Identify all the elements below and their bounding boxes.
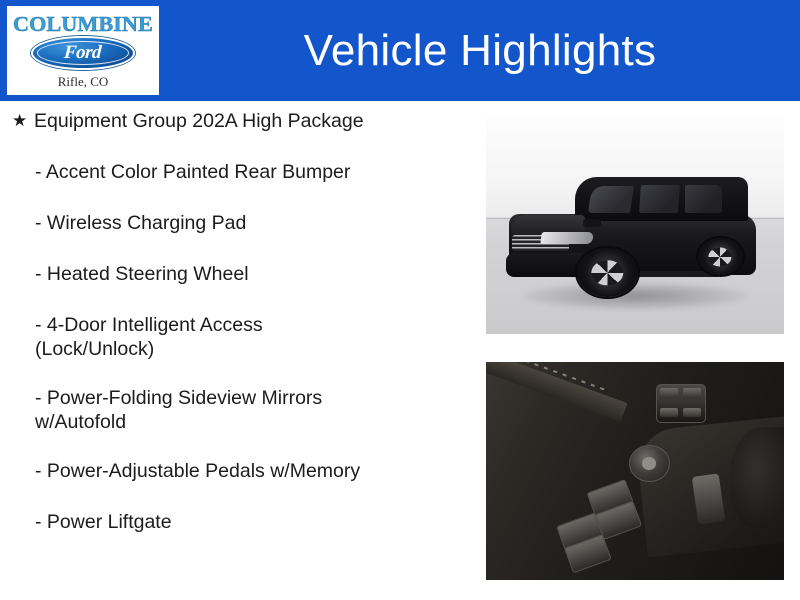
vehicle-interior-photo [486,362,784,580]
list-item-label: - Accent Color Painted Rear Bumper [35,160,470,184]
suv-rear-window [685,185,722,213]
suv-illustration [504,175,766,297]
star-bullet-icon: ★ [12,109,34,133]
lock-indicator-icon [683,388,701,398]
list-item: - Power-Adjustable Pedals w/Memory [0,459,470,483]
dealer-logo: COLUMBINE Ford Rifle, CO [7,6,159,95]
suv-headlight [540,232,594,244]
page-content: ★ Equipment Group 202A High Package - Ac… [0,101,800,600]
suv-side-mirror [583,219,601,228]
list-item-label: - 4-Door Intelligent Access (Lock/Unlock… [35,313,470,361]
mirror-control-dial-icon [629,445,670,482]
suv-rear-wheel [698,238,743,275]
wheel-hub [709,247,732,266]
list-item: - Power Liftgate [0,510,470,534]
list-item: - Heated Steering Wheel [0,262,470,286]
list-item-label: Equipment Group 202A High Package [34,109,470,133]
page-title: Vehicle Highlights [160,0,800,101]
ford-oval-icon: Ford [31,36,135,70]
dealer-name-wordmark: COLUMBINE [13,14,153,35]
seat-edge [730,427,784,527]
vehicle-highlights-list: ★ Equipment Group 202A High Package - Ac… [0,101,470,561]
list-item-label: - Power-Adjustable Pedals w/Memory [35,459,470,483]
unlock-button-icon [660,408,678,418]
list-item: - Power-Folding Sideview Mirrors w/Autof… [0,386,470,434]
ford-oval-inner-ring: Ford [37,41,129,65]
suv-front-window [639,185,680,213]
list-item: - Accent Color Painted Rear Bumper [0,160,470,184]
list-item-label: - Power-Folding Sideview Mirrors w/Autof… [35,386,470,434]
suv-running-board [625,271,719,277]
wheel-hub [592,260,623,285]
suv-front-bumper [506,253,585,277]
suv-windshield [588,186,634,213]
vehicle-exterior-photo [486,116,784,334]
page-header: COLUMBINE Ford Rifle, CO Vehicle Highlig… [0,0,800,101]
list-item-label: - Power Liftgate [35,510,470,534]
list-item-label: - Heated Steering Wheel [35,262,470,286]
door-lock-switch-panel [656,384,706,423]
unlock-indicator-icon [683,408,701,418]
ford-brand-script: Ford [64,43,102,62]
list-item: - Wireless Charging Pad [0,211,470,235]
list-item: - 4-Door Intelligent Access (Lock/Unlock… [0,313,470,361]
list-item: ★ Equipment Group 202A High Package [0,109,470,133]
dealer-location: Rifle, CO [58,75,109,88]
suv-front-wheel [577,248,637,297]
lock-button-icon [660,388,678,398]
list-item-label: - Wireless Charging Pad [35,211,470,235]
